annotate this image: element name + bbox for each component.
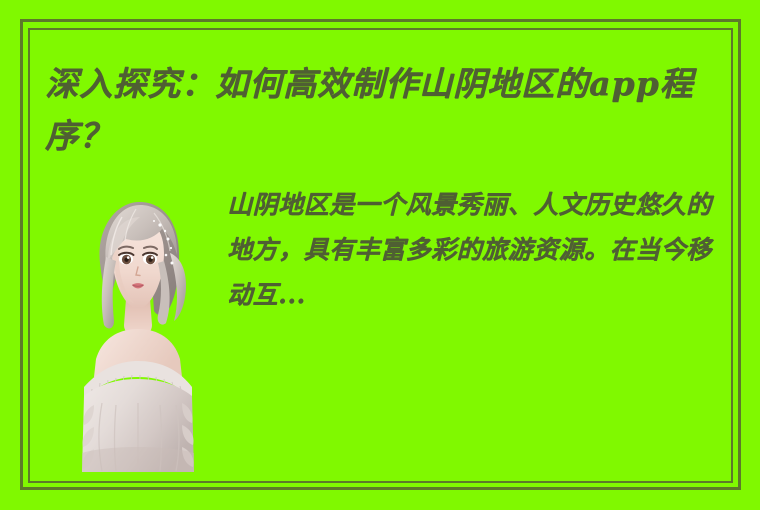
character-portrait-icon — [78, 191, 197, 472]
card-content: 深入探究：如何高效制作山阴地区的app程序？ — [0, 0, 760, 510]
article-thumbnail[interactable] — [78, 191, 197, 472]
article-card: 深入探究：如何高效制作山阴地区的app程序？ — [0, 0, 760, 510]
article-title[interactable]: 深入探究：如何高效制作山阴地区的app程序？ — [45, 58, 715, 162]
article-excerpt: 山阴地区是一个风景秀丽、人文历史悠久的地方，具有丰富多彩的旅游资源。在当今移动互… — [227, 182, 723, 317]
